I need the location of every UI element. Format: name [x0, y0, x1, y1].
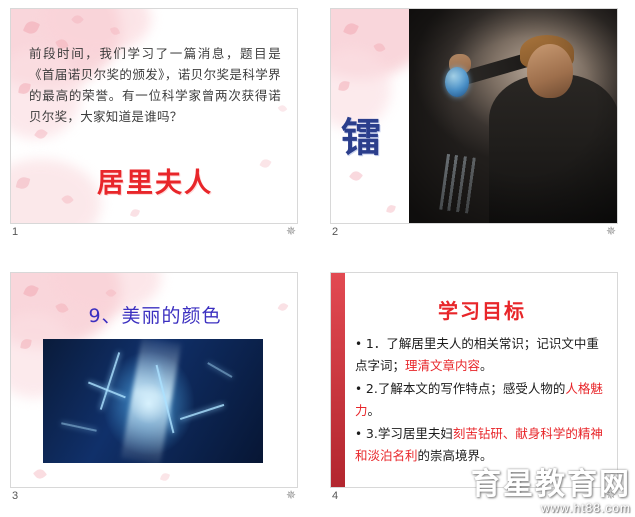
- slide-cell-4[interactable]: 学习目标 • 1．了解居里夫人的相关常识；记识文中重点字词；理清文章内容。• 2…: [330, 272, 618, 488]
- slide-2[interactable]: 镭: [330, 8, 618, 224]
- slide-1-title: 居里夫人: [11, 161, 298, 200]
- slide-2-big-character: 镭: [341, 105, 381, 163]
- slide-star-icon-3: ✵: [286, 488, 296, 502]
- objective-text: 3.学习居里夫妇: [366, 426, 453, 441]
- slide-1[interactable]: 前段时间，我们学习了一篇消息，题目是《首届诺贝尔奖的颁发》，诺贝尔奖是科学界的最…: [10, 8, 298, 224]
- objective-highlight-text: 理清文章内容: [405, 358, 480, 373]
- slide-2-photo: [409, 9, 618, 224]
- objective-text: 。: [368, 403, 381, 418]
- slide-1-body-text: 前段时间，我们学习了一篇消息，题目是《首届诺贝尔奖的颁发》，诺贝尔奖是科学界的最…: [29, 43, 281, 127]
- objective-item: • 1．了解居里夫人的相关常识；记识文中重点字词；理清文章内容。: [355, 333, 607, 376]
- slide-cell-3[interactable]: 9、美丽的颜色 3 ✵: [10, 272, 298, 488]
- objective-text: 2.了解本文的写作特点；感受人物的: [366, 381, 565, 396]
- bullet-icon: •: [355, 427, 366, 441]
- slide-4-title: 学习目标: [345, 295, 618, 324]
- slide-4[interactable]: 学习目标 • 1．了解居里夫人的相关常识；记识文中重点字词；理清文章内容。• 2…: [330, 272, 618, 488]
- slide-4-objectives-list: • 1．了解居里夫人的相关常识；记识文中重点字词；理清文章内容。• 2.了解本文…: [355, 333, 607, 468]
- slide-3-title: 9、美丽的颜色: [11, 301, 298, 328]
- slide-star-icon-4: ✵: [606, 488, 616, 502]
- slide-number-2: 2: [332, 226, 338, 238]
- bullet-icon: •: [355, 337, 366, 351]
- objective-text: 。: [480, 358, 493, 373]
- slide-number-1: 1: [12, 226, 18, 238]
- slide-3[interactable]: 9、美丽的颜色: [10, 272, 298, 488]
- slide-star-icon-1: ✵: [286, 224, 296, 238]
- slide-thumbnail-grid: 前段时间，我们学习了一篇消息，题目是《首届诺贝尔奖的颁发》，诺贝尔奖是科学界的最…: [0, 0, 635, 517]
- watermark-site-url: www.ht88.com: [471, 501, 631, 515]
- objective-item: • 3.学习居里夫妇刻苦钻研、献身科学的精神和淡泊名利的崇高境界。: [355, 423, 607, 466]
- objective-item: • 2.了解本文的写作特点；感受人物的人格魅力。: [355, 378, 607, 421]
- slide-cell-2[interactable]: 镭 2 ✵: [330, 8, 618, 224]
- slide-number-4: 4: [332, 490, 338, 502]
- slide-star-icon-2: ✵: [606, 224, 616, 238]
- bullet-icon: •: [355, 382, 366, 396]
- slide-3-image: [43, 339, 263, 463]
- slide-4-left-band: [331, 273, 345, 488]
- slide-cell-1[interactable]: 前段时间，我们学习了一篇消息，题目是《首届诺贝尔奖的颁发》，诺贝尔奖是科学界的最…: [10, 8, 298, 224]
- objective-text: 的崇高境界。: [418, 448, 493, 463]
- slide-number-3: 3: [12, 490, 18, 502]
